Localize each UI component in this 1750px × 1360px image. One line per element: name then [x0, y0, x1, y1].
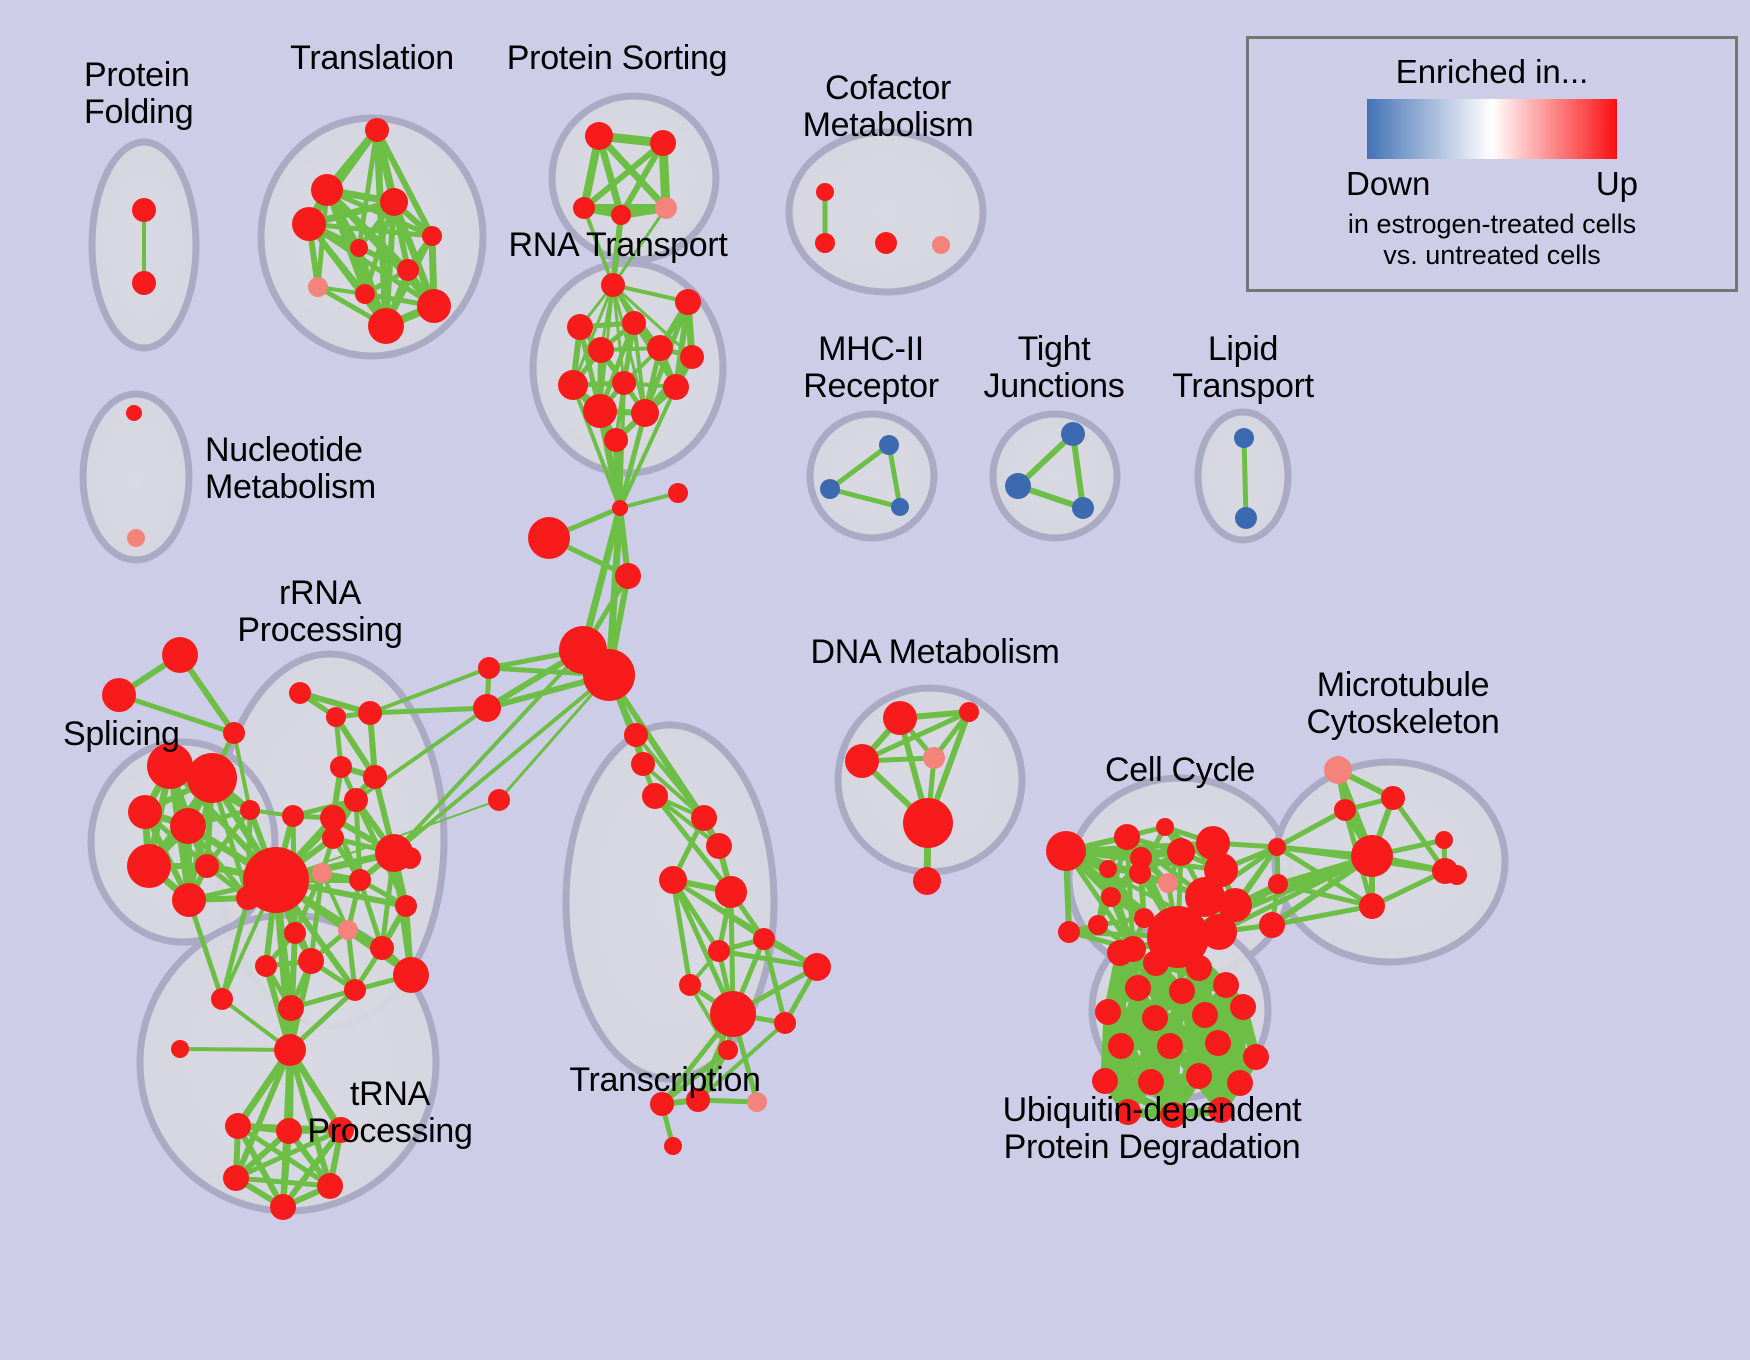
gene-set-node[interactable] [132, 198, 156, 222]
gene-set-node[interactable] [611, 205, 631, 225]
gene-set-node[interactable] [631, 752, 655, 776]
gene-set-node[interactable] [276, 1118, 302, 1144]
gene-set-node[interactable] [170, 808, 206, 844]
gene-set-node[interactable] [675, 289, 701, 315]
gene-set-node[interactable] [365, 118, 389, 142]
gene-set-node[interactable] [612, 371, 636, 395]
gene-set-node[interactable] [289, 682, 311, 704]
gene-set-node[interactable] [1351, 835, 1393, 877]
gene-set-node[interactable] [601, 273, 625, 297]
gene-set-node[interactable] [1125, 975, 1151, 1001]
cluster-label-dna-metabolism: DNA Metabolism [811, 634, 1060, 671]
gene-set-node[interactable] [774, 1012, 796, 1034]
gene-set-node[interactable] [344, 788, 368, 812]
gene-set-node[interactable] [959, 702, 979, 722]
legend-caption: in estrogen-treated cells vs. untreated … [1348, 209, 1636, 271]
cluster-label-ubiquitin-degradation: Ubiquitin-dependent Protein Degradation [1003, 1092, 1302, 1167]
gene-set-node[interactable] [270, 1194, 296, 1220]
legend-title: Enriched in... [1396, 53, 1589, 91]
gene-set-node[interactable] [363, 765, 387, 789]
gene-set-node[interactable] [1435, 831, 1453, 849]
gene-set-node[interactable] [659, 866, 687, 894]
gene-set-node[interactable] [338, 920, 358, 940]
gene-set-node[interactable] [1158, 873, 1178, 893]
gene-set-node[interactable] [1156, 818, 1174, 836]
gene-set-node[interactable] [803, 953, 831, 981]
gene-set-node[interactable] [1230, 994, 1256, 1020]
gene-set-node[interactable] [631, 399, 659, 427]
gene-set-node[interactable] [1268, 874, 1288, 894]
gene-set-node[interactable] [298, 948, 324, 974]
cluster-label-protein-folding: Protein Folding [84, 57, 193, 132]
gene-set-node[interactable] [282, 805, 304, 827]
gene-set-node[interactable] [1213, 972, 1239, 998]
gene-set-node[interactable] [344, 979, 366, 1001]
gene-set-node[interactable] [1114, 824, 1140, 850]
cluster-label-transcription: Transcription [569, 1062, 760, 1099]
legend-endpoints: Down Up [1346, 165, 1638, 203]
gene-set-node[interactable] [312, 863, 332, 883]
gene-set-node[interactable] [488, 789, 510, 811]
gene-set-node[interactable] [243, 847, 309, 913]
gene-set-node[interactable] [668, 483, 688, 503]
cluster-label-tight-junctions: Tight Junctions [984, 331, 1125, 406]
gene-set-node[interactable] [622, 311, 646, 335]
gene-set-node[interactable] [240, 800, 260, 820]
gene-set-node[interactable] [1088, 915, 1108, 935]
gene-set-node[interactable] [1259, 912, 1285, 938]
gene-set-node[interactable] [1058, 921, 1080, 943]
gene-set-node[interactable] [1061, 422, 1085, 446]
gene-set-node[interactable] [879, 435, 899, 455]
gene-set-node[interactable] [642, 783, 668, 809]
gene-set-node[interactable] [350, 239, 368, 257]
gene-set-node[interactable] [710, 991, 756, 1037]
gene-set-node[interactable] [225, 1113, 251, 1139]
gene-set-node[interactable] [284, 922, 306, 944]
gene-set-node[interactable] [358, 701, 382, 725]
gene-set-node[interactable] [816, 183, 834, 201]
gene-set-node[interactable] [883, 701, 917, 735]
gene-set-node[interactable] [322, 827, 344, 849]
gene-set-node[interactable] [612, 500, 628, 516]
gene-set-node[interactable] [875, 232, 897, 254]
gene-set-node[interactable] [1205, 1030, 1231, 1056]
gene-set-node[interactable] [326, 707, 346, 727]
gene-set-node[interactable] [127, 844, 171, 888]
gene-set-node[interactable] [1359, 893, 1385, 919]
gene-set-node[interactable] [679, 974, 701, 996]
gene-set-node[interactable] [923, 747, 945, 769]
cluster-label-splicing: Splicing [63, 716, 180, 753]
gene-set-node[interactable] [845, 744, 879, 778]
gene-set-node[interactable] [380, 188, 408, 216]
gene-set-node[interactable] [663, 374, 689, 400]
gene-set-node[interactable] [417, 289, 451, 323]
gene-set-node[interactable] [1101, 887, 1121, 907]
gene-set-node[interactable] [478, 657, 500, 679]
gene-set-node[interactable] [558, 370, 588, 400]
cluster-label-cell-cycle: Cell Cycle [1105, 752, 1255, 789]
gene-set-node[interactable] [211, 988, 233, 1010]
gene-set-node[interactable] [223, 722, 245, 744]
gene-set-node[interactable] [355, 284, 375, 304]
gene-set-node[interactable] [274, 1034, 306, 1066]
gene-set-node[interactable] [903, 798, 953, 848]
gene-set-node[interactable] [815, 233, 835, 253]
gene-set-node[interactable] [1243, 1044, 1269, 1070]
cluster-label-microtubule-cytoskeleton: Microtubule Cytoskeleton [1307, 667, 1500, 742]
gene-set-node[interactable] [753, 928, 775, 950]
cluster-label-nucleotide-metabolism: Nucleotide Metabolism [205, 432, 376, 507]
gene-set-node[interactable] [375, 834, 413, 872]
gene-set-node[interactable] [680, 345, 704, 369]
legend-box: Enriched in... Down Up in estrogen-treat… [1246, 36, 1738, 292]
gene-set-node[interactable] [567, 314, 593, 340]
cluster-label-cofactor-metabolism: Cofactor Metabolism [803, 70, 974, 145]
gene-set-node[interactable] [126, 405, 142, 421]
gene-set-node[interactable] [1143, 950, 1169, 976]
cluster-label-rrna-processing: rRNA Processing [237, 575, 402, 650]
gene-set-node[interactable] [278, 995, 304, 1021]
gene-set-node[interactable] [187, 753, 237, 803]
gene-set-node[interactable] [1046, 831, 1086, 871]
gene-set-node[interactable] [311, 174, 343, 206]
gene-set-node[interactable] [308, 277, 328, 297]
cluster-label-mhc-ii-receptor: MHC-II Receptor [803, 331, 939, 406]
gene-set-node[interactable] [664, 1137, 682, 1155]
gene-set-node[interactable] [1186, 955, 1212, 981]
gene-set-node[interactable] [1108, 1033, 1134, 1059]
gene-set-node[interactable] [706, 833, 732, 859]
network-edge[interactable] [180, 1049, 290, 1050]
gene-set-node[interactable] [1235, 507, 1257, 529]
gene-set-node[interactable] [397, 259, 419, 281]
gene-set-node[interactable] [655, 197, 677, 219]
gene-set-node[interactable] [1095, 999, 1121, 1025]
gene-set-node[interactable] [473, 694, 501, 722]
gene-set-node[interactable] [1142, 1005, 1168, 1031]
gene-set-node[interactable] [128, 795, 162, 829]
gene-set-node[interactable] [422, 226, 442, 246]
gene-set-node[interactable] [588, 337, 614, 363]
gene-set-node[interactable] [528, 517, 570, 559]
gene-set-node[interactable] [691, 805, 717, 831]
legend-color-gradient-bar [1367, 99, 1617, 159]
gene-set-node[interactable] [162, 637, 198, 673]
gene-set-node[interactable] [1381, 786, 1405, 810]
gene-set-node[interactable] [292, 207, 326, 241]
gene-set-node[interactable] [1107, 940, 1133, 966]
gene-set-node[interactable] [1005, 473, 1031, 499]
gene-set-node[interactable] [604, 428, 628, 452]
gene-set-node[interactable] [1234, 428, 1254, 448]
gene-set-node[interactable] [1432, 858, 1458, 884]
gene-set-node[interactable] [330, 756, 352, 778]
cluster-label-rna-transport: RNA Transport [508, 227, 727, 264]
gene-set-node[interactable] [624, 723, 648, 747]
gene-set-node[interactable] [585, 122, 613, 150]
gene-set-node[interactable] [370, 936, 394, 960]
gene-set-node[interactable] [171, 1040, 189, 1058]
gene-set-node[interactable] [820, 479, 840, 499]
cluster-label-protein-sorting: Protein Sorting [507, 40, 727, 77]
cluster-label-trna-processing: tRNA Processing [307, 1076, 472, 1151]
gene-set-node[interactable] [1169, 978, 1195, 1004]
gene-set-node[interactable] [615, 563, 641, 589]
gene-set-node[interactable] [127, 529, 145, 547]
gene-set-node[interactable] [932, 236, 950, 254]
gene-set-node[interactable] [132, 271, 156, 295]
enrichment-map-figure: Protein FoldingTranslationProtein Sortin… [0, 0, 1750, 1360]
gene-set-node[interactable] [718, 1040, 738, 1060]
gene-set-node[interactable] [172, 883, 206, 917]
gene-set-node[interactable] [708, 940, 730, 962]
gene-set-node[interactable] [583, 649, 635, 701]
gene-set-node[interactable] [1334, 799, 1356, 821]
gene-set-node[interactable] [1129, 862, 1151, 884]
gene-set-node[interactable] [349, 869, 371, 891]
gene-set-node[interactable] [573, 197, 595, 219]
cluster-label-lipid-transport: Lipid Transport [1172, 331, 1314, 406]
gene-set-node[interactable] [891, 498, 909, 516]
network-edge[interactable] [1244, 438, 1246, 518]
gene-set-node[interactable] [1157, 1033, 1183, 1059]
cluster-ellipse-cofactor-metabolism[interactable] [789, 132, 983, 292]
gene-set-node[interactable] [1186, 1063, 1212, 1089]
gene-set-node[interactable] [393, 957, 429, 993]
gene-set-node[interactable] [583, 394, 617, 428]
cluster-ellipse-mhc-ii-receptor[interactable] [810, 414, 934, 538]
gene-set-node[interactable] [255, 955, 277, 977]
gene-set-node[interactable] [1167, 838, 1195, 866]
gene-set-node[interactable] [1192, 1002, 1218, 1028]
legend-down-label: Down [1346, 165, 1430, 203]
gene-set-node[interactable] [395, 895, 417, 917]
gene-set-node[interactable] [1099, 860, 1117, 878]
gene-set-node[interactable] [102, 678, 136, 712]
gene-set-node[interactable] [1268, 838, 1286, 856]
gene-set-node[interactable] [317, 1173, 343, 1199]
gene-set-node[interactable] [368, 308, 404, 344]
gene-set-node[interactable] [1324, 756, 1352, 784]
gene-set-node[interactable] [913, 867, 941, 895]
gene-set-node[interactable] [715, 876, 747, 908]
gene-set-node[interactable] [647, 335, 673, 361]
gene-set-node[interactable] [1072, 497, 1094, 519]
cluster-label-translation: Translation [290, 40, 454, 77]
legend-up-label: Up [1596, 165, 1638, 203]
gene-set-node[interactable] [223, 1165, 249, 1191]
gene-set-node[interactable] [195, 854, 219, 878]
gene-set-node[interactable] [650, 130, 676, 156]
